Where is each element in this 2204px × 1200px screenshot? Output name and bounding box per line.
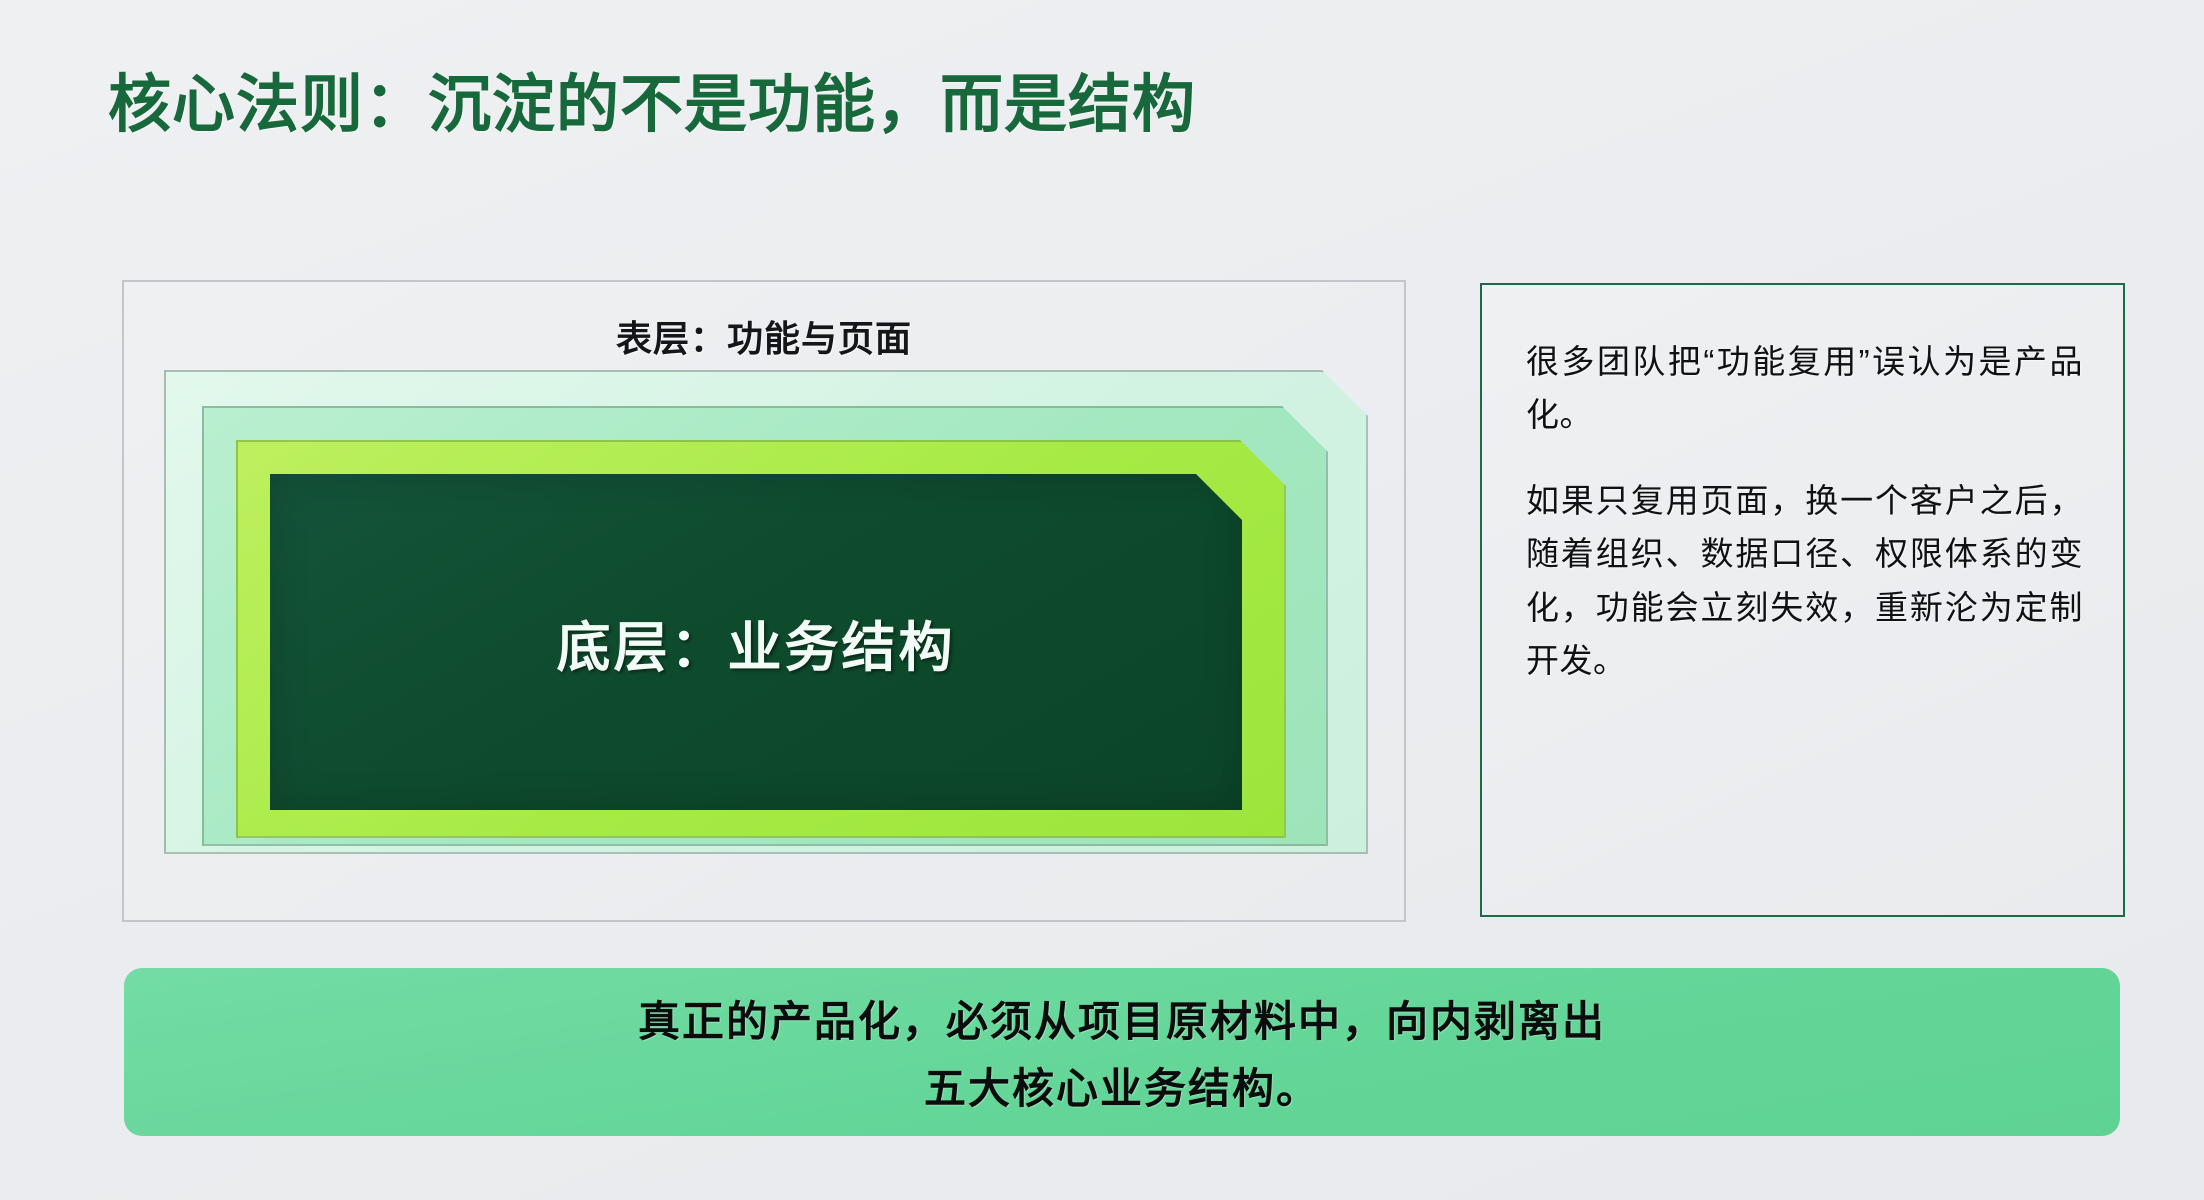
core-layer-label: 底层：业务结构 xyxy=(270,474,1242,810)
note-panel: 很多团队把“功能复用”误认为是产品化。 如果只复用页面，换一个客户之后，随着组织… xyxy=(1480,283,2125,917)
page-title: 核心法则：沉淀的不是功能，而是结构 xyxy=(108,54,1196,145)
diagram-layer-4-core: 底层：业务结构 xyxy=(270,474,1242,810)
layer-4-face: 底层：业务结构 xyxy=(270,474,1242,810)
conclusion-line-2: 五大核心业务结构。 xyxy=(924,1055,1320,1116)
conclusion-banner: 真正的产品化，必须从项目原材料中，向内剥离出 五大核心业务结构。 xyxy=(124,968,2120,1136)
note-paragraph-1: 很多团队把“功能复用”误认为是产品化。 xyxy=(1526,335,2083,442)
note-paragraph-2: 如果只复用页面，换一个客户之后，随着组织、数据口径、权限体系的变化，功能会立刻失… xyxy=(1526,474,2083,688)
surface-layer-label: 表层：功能与页面 xyxy=(124,310,1404,362)
layer-diagram-frame: 表层：功能与页面 底层：业务结构 xyxy=(122,280,1406,922)
conclusion-line-1: 真正的产品化，必须从项目原材料中，向内剥离出 xyxy=(638,988,1606,1049)
slide-canvas: 核心法则：沉淀的不是功能，而是结构 表层：功能与页面 底层：业务结构 很多团队把… xyxy=(0,0,2204,1200)
